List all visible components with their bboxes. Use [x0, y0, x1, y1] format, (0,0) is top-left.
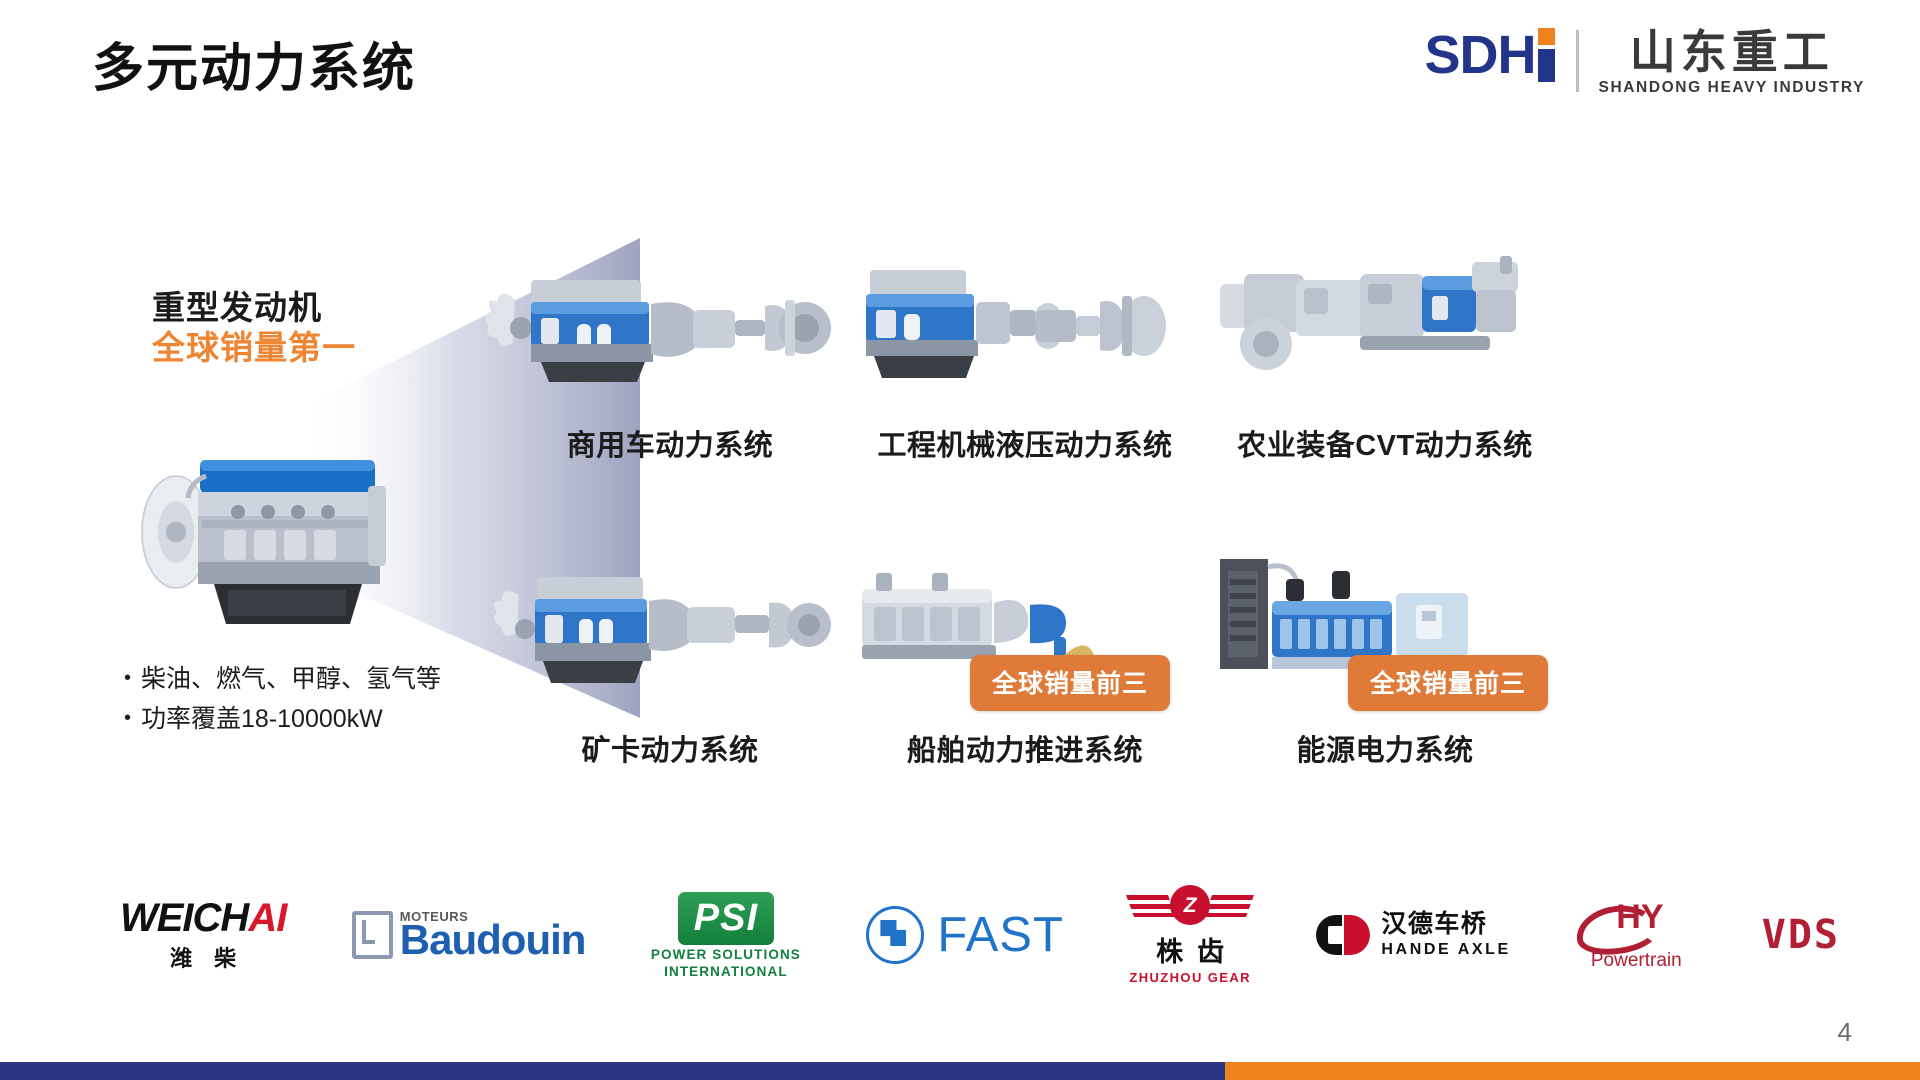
lhy-letters: HY	[1616, 900, 1663, 934]
product-card-commercial-vehicle[interactable]: 商用车动力系统	[485, 240, 855, 464]
product-caption: 能源电力系统	[1200, 727, 1570, 769]
logo-chinese-block: 山东重工 SHANDONG HEAVY INDUSTRY	[1599, 28, 1865, 97]
footer-bar	[0, 1062, 1920, 1080]
zhuzhou-wing-left	[1126, 895, 1176, 917]
sdhi-i-dot	[1538, 28, 1555, 45]
partner-logo-lhy-powertrain: HY Powertrain	[1576, 880, 1696, 990]
partner-logo-fast: FAST	[866, 880, 1064, 990]
logo-divider	[1576, 30, 1579, 92]
product-image-commercial-vehicle	[485, 240, 855, 410]
zhuzhou-text-cn: 株齿	[1142, 930, 1238, 969]
fast-swirl-icon	[866, 906, 924, 964]
product-card-agricultural-cvt[interactable]: 农业装备CVT动力系统	[1200, 240, 1570, 464]
partner-logo-psi: PSI POWER SOLUTIONS INTERNATIONAL	[651, 880, 801, 990]
list-item: • 柴油、燃气、甲醇、氢气等	[124, 660, 441, 700]
sdhi-letter-h: H	[1498, 28, 1536, 82]
psi-subtitle-1: POWER SOLUTIONS	[651, 947, 801, 962]
status-badge: 全球销量前三	[1348, 655, 1548, 711]
bullet-marker-icon: •	[124, 708, 131, 728]
list-item: • 功率覆盖18-10000kW	[124, 700, 441, 740]
sdhi-i-stem	[1538, 49, 1555, 82]
partner-logo-vds: VDS	[1762, 880, 1840, 990]
product-caption: 农业装备CVT动力系统	[1200, 422, 1570, 464]
partner-logo-weichai: WEICHAI 潍柴	[120, 880, 286, 990]
hande-text-en: HANDE AXLE	[1381, 941, 1510, 959]
psi-subtitle-2: INTERNATIONAL	[664, 964, 788, 979]
baudouin-text-name: Baudouin	[400, 919, 586, 961]
hero-heading: 重型发动机 全球销量第一	[152, 288, 356, 369]
partner-logo-strip: WEICHAI 潍柴 MOTEURS Baudouin PSI POWER SO…	[120, 880, 1840, 990]
zhuzhou-wings-gear-icon: Z	[1130, 885, 1250, 929]
product-image-agricultural-cvt	[1200, 240, 1570, 410]
product-image-mining-truck	[485, 545, 855, 715]
sdhi-logo: SDH 山东重工 SHANDONG HEAVY INDUSTRY	[1425, 28, 1865, 97]
page-title: 多元动力系统	[92, 26, 416, 101]
sdhi-letter-i-icon	[1536, 28, 1556, 82]
product-card-construction-machinery[interactable]: 工程机械液压动力系统	[840, 240, 1210, 464]
hande-mark-left	[1316, 915, 1342, 955]
hero-heading-line1: 重型发动机	[152, 288, 356, 328]
product-caption: 商用车动力系统	[485, 422, 855, 464]
footer-bar-blue	[0, 1062, 1225, 1080]
fast-wordmark: FAST	[937, 911, 1064, 960]
status-badge: 全球销量前三	[970, 655, 1170, 711]
lhy-mark-icon: HY	[1576, 898, 1696, 948]
zhuzhou-mark-letter: Z	[1184, 895, 1197, 916]
bullet-marker-icon: •	[124, 668, 131, 688]
weichai-text-cn: 潍柴	[148, 941, 258, 973]
baudouin-mark-icon	[352, 911, 393, 959]
product-card-energy-power[interactable]: 全球销量前三 能源电力系统	[1200, 545, 1570, 769]
weichai-text-red: AI	[248, 898, 286, 938]
product-card-marine-propulsion[interactable]: 全球销量前三 船舶动力推进系统	[840, 545, 1210, 769]
product-caption: 船舶动力推进系统	[840, 727, 1210, 769]
product-image-construction-machinery	[840, 240, 1210, 410]
hero-bullet-text: 功率覆盖18-10000kW	[141, 700, 383, 740]
heavy-duty-diesel-engine-image	[128, 420, 428, 650]
hero-bullet-text: 柴油、燃气、甲醇、氢气等	[141, 660, 441, 700]
hero-bullet-list: • 柴油、燃气、甲醇、氢气等 • 功率覆盖18-10000kW	[124, 660, 441, 739]
zhuzhou-wing-right	[1204, 895, 1254, 917]
partner-logo-hande-axle: 汉德车桥 HANDE AXLE	[1316, 880, 1510, 990]
logo-company-cn: 山东重工	[1630, 28, 1834, 76]
sdhi-letters-sd: SD	[1425, 28, 1498, 82]
sdhi-wordmark: SDH	[1425, 28, 1556, 82]
logo-company-en: SHANDONG HEAVY INDUSTRY	[1599, 79, 1865, 97]
psi-letters: PSI	[694, 899, 758, 937]
slide-root: 多元动力系统 SDH 山东重工 SHANDONG HEAVY INDUSTRY …	[0, 0, 1920, 1080]
page-number: 4	[1838, 1017, 1852, 1048]
zhuzhou-text-en: ZHUZHOU GEAR	[1129, 970, 1251, 985]
weichai-wordmark: WEICHAI	[120, 898, 286, 938]
hande-mark-icon	[1316, 915, 1370, 955]
hande-text-cn: 汉德车桥	[1381, 911, 1487, 939]
product-caption: 工程机械液压动力系统	[840, 422, 1210, 464]
vds-wordmark: VDS	[1762, 912, 1840, 958]
hande-mark-right	[1344, 915, 1370, 955]
weichai-text-black: WEICH	[120, 898, 248, 938]
psi-badge: PSI	[678, 892, 774, 945]
footer-bar-orange	[1225, 1062, 1920, 1080]
partner-logo-baudouin: MOTEURS Baudouin	[352, 880, 586, 990]
zhuzhou-gear-badge: Z	[1170, 885, 1210, 925]
product-card-mining-truck[interactable]: 矿卡动力系统	[485, 545, 855, 769]
hero-heading-line2: 全球销量第一	[152, 328, 356, 368]
partner-logo-zhuzhou-gear: Z 株齿 ZHUZHOU GEAR	[1129, 880, 1251, 990]
product-caption: 矿卡动力系统	[485, 727, 855, 769]
